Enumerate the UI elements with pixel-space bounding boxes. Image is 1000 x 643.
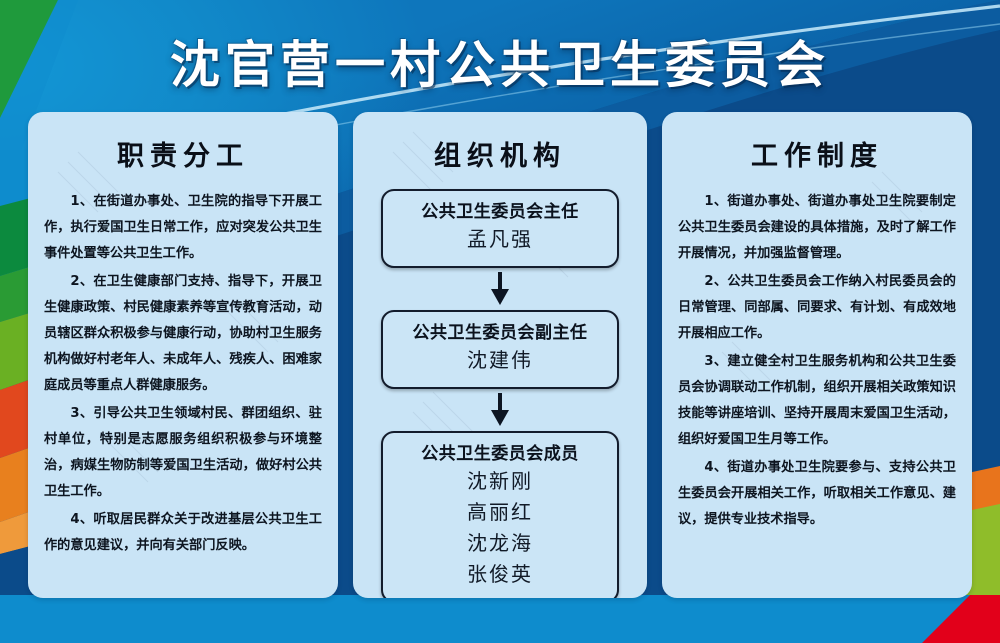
org-node-chairman: 公共卫生委员会主任 孟凡强 <box>381 189 619 268</box>
worksystem-paragraph-1: 1、街道办事处、街道办事处卫生院要制定公共卫生委员会建设的具体措施，及时了解工作… <box>678 189 956 267</box>
poster-header: 沈官营一村公共卫生委员会 <box>0 24 1000 98</box>
panels-container: 职责分工 1、在街道办事处、卫生院的指导下开展工作，执行爱国卫生日常工作，应对突… <box>0 112 1000 598</box>
poster-root: 沈官营一村公共卫生委员会 职责分工 1、在街道办事处、卫生院的指导下开展工作，执… <box>0 0 1000 643</box>
org-role-label: 公共卫生委员会主任 <box>389 200 611 224</box>
page-title: 沈官营一村公共卫生委员会 <box>170 25 830 97</box>
panel-work-system: 工作制度 1、街道办事处、街道办事处卫生院要制定公共卫生委员会建设的具体措施，及… <box>662 112 972 598</box>
org-node-members: 公共卫生委员会成员 沈新刚 高丽红 沈龙海 张俊英 <box>381 431 619 598</box>
org-person-name: 张俊英 <box>389 559 611 590</box>
panel-organization: 图行天下 58.COM 组织机构 公共卫生委员会主任 孟凡强 <box>353 112 647 598</box>
worksystem-paragraph-3: 3、建立健全村卫生服务机构和公共卫生委员会协调联动工作机制，组织开展相关政策知识… <box>678 349 956 453</box>
duties-paragraph-4: 4、听取居民群众关于改进基层公共卫生工作的意见建议，并向有关部门反映。 <box>44 507 322 559</box>
org-node-vice-chairman: 公共卫生委员会副主任 沈建伟 <box>381 310 619 389</box>
org-person-name: 高丽红 <box>389 497 611 528</box>
worksystem-paragraph-4: 4、街道办事处卫生院要参与、支持公共卫生委员会开展相关工作，听取相关工作意见、建… <box>678 455 956 533</box>
duties-paragraph-2: 2、在卫生健康部门支持、指导下，开展卫生健康政策、村民健康素养等宣传教育活动，动… <box>44 269 322 399</box>
org-chart: 公共卫生委员会主任 孟凡强 公共卫生委员会副主任 沈建伟 <box>369 189 631 598</box>
panel-duties: 职责分工 1、在街道办事处、卫生院的指导下开展工作，执行爱国卫生日常工作，应对突… <box>28 112 338 598</box>
bottom-red-accent <box>880 595 1000 643</box>
org-role-label: 公共卫生委员会成员 <box>389 442 611 466</box>
panel-title-work-system: 工作制度 <box>678 134 956 173</box>
duties-paragraph-3: 3、引导公共卫生领域村民、群团组织、驻村单位，特别是志愿服务组织积极参与环境整治… <box>44 401 322 505</box>
org-person-name: 沈龙海 <box>389 528 611 559</box>
org-role-label: 公共卫生委员会副主任 <box>389 321 611 345</box>
org-person-name: 孟凡强 <box>389 224 611 255</box>
down-arrow-icon <box>489 393 511 427</box>
bottom-blue-band <box>0 595 1000 643</box>
panel-title-duties: 职责分工 <box>44 134 322 173</box>
panel-title-organization: 组织机构 <box>369 134 631 173</box>
org-person-name: 沈新刚 <box>389 466 611 497</box>
worksystem-paragraph-2: 2、公共卫生委员会工作纳入村民委员会的日常管理、同部属、同要求、有计划、有成效地… <box>678 269 956 347</box>
down-arrow-icon <box>489 272 511 306</box>
duties-paragraph-1: 1、在街道办事处、卫生院的指导下开展工作，执行爱国卫生日常工作，应对突发公共卫生… <box>44 189 322 267</box>
org-person-name: 沈建伟 <box>389 345 611 376</box>
